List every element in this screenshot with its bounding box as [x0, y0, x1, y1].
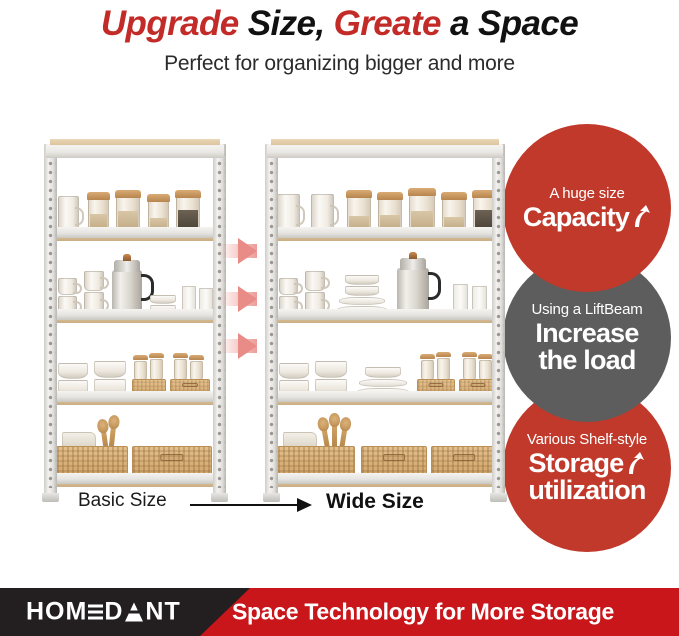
brand-logo: HOMDNT [26, 598, 181, 627]
headline-word-greate: Greate [334, 4, 441, 43]
brand-glyph-a [125, 603, 143, 622]
badge-storage-title-2: utilization [528, 477, 645, 504]
shelf-post-left [265, 144, 278, 494]
shelf-top-cap [46, 144, 224, 158]
transition-arrow-icon [238, 286, 257, 312]
page-title: Upgrade Size, Greate a Space [0, 4, 679, 44]
badge-capacity-subtitle: A huge size [549, 186, 624, 201]
bowl-stack [315, 361, 347, 378]
size-comparison-caption: Basic Size Wide Size [0, 490, 510, 524]
storage-jar [437, 358, 450, 381]
mug [305, 271, 325, 291]
plate-stack [339, 297, 385, 305]
shelf-beam [269, 227, 501, 238]
product-infographic: Upgrade Size, Greate a Space Perfect for… [0, 0, 679, 636]
bowl-stack [365, 367, 401, 378]
headline-word-space: a Space [441, 4, 578, 43]
shelf-top-cap [267, 144, 503, 158]
badge-storage-title: Storage [529, 450, 624, 477]
shelf-foot-left [263, 493, 280, 502]
badge-load-subtitle: Using a LiftBeam [531, 302, 642, 317]
shelf-foot-right [211, 493, 228, 502]
plate-stack [359, 379, 407, 387]
basic-shelf-2-items [54, 242, 216, 314]
wide-shelf-1-items [275, 180, 495, 232]
storage-jar [190, 361, 203, 381]
badge-capacity-title: Capacity [523, 204, 629, 231]
basic-shelf-1-items [54, 180, 216, 232]
shelf-beam [48, 473, 222, 484]
wooden-spoon [321, 426, 330, 449]
wide-shelf-4-items [275, 406, 495, 478]
basic-size-label: Basic Size [78, 490, 167, 512]
shelf-post-left [44, 144, 57, 494]
wide-shelf-3-items [275, 324, 495, 396]
basic-size-shelf-unit [44, 144, 226, 494]
mug [84, 271, 104, 291]
basic-shelf-3-items [54, 324, 216, 396]
shelf-post-right [213, 144, 226, 494]
mug [58, 278, 77, 295]
bowl-stack [279, 363, 309, 379]
shelf-beam [269, 391, 501, 402]
badge-load-title: Increase [535, 320, 638, 347]
headline-word-upgrade: Upgrade [101, 4, 239, 43]
storage-jar [134, 361, 147, 381]
moka-pot [112, 270, 142, 314]
transition-arrow-icon [238, 238, 257, 264]
wooden-spoon [332, 422, 337, 448]
storage-jar [421, 360, 434, 381]
wide-shelf-2-items [275, 242, 495, 314]
badge-load-title-2: the load [538, 347, 635, 374]
mug [279, 278, 298, 295]
transition-arrow-icon [238, 333, 257, 359]
moka-pot [397, 268, 429, 314]
shelf-post-right [492, 144, 505, 494]
footer-tagline: Space Technology for More Storage [232, 599, 614, 626]
bowl-stack [58, 363, 88, 379]
wide-size-label: Wide Size [326, 490, 424, 514]
badge-storage-subtitle: Various Shelf-style [527, 432, 647, 447]
shelf-beam [269, 473, 501, 484]
bowl-stack [94, 361, 126, 378]
shelf-beam [48, 227, 222, 238]
headline-word-size: Size, [239, 4, 334, 43]
storage-jar [479, 360, 492, 381]
footer-bar: HOMDNT Space Technology for More Storage [0, 588, 679, 636]
storage-jar [463, 358, 476, 381]
wide-size-shelf-unit [265, 144, 505, 494]
shelf-foot-left [42, 493, 59, 502]
brand-glyph-e [88, 603, 103, 622]
brand-prefix: HOM [26, 598, 87, 627]
shelf-beam [48, 391, 222, 402]
brand-suffix: NT [145, 598, 180, 627]
wooden-spoon [109, 424, 116, 448]
up-arrow-icon [631, 205, 651, 229]
feature-badges: A huge size Capacity Using a LiftBeam In… [503, 124, 673, 524]
bowl-stack [150, 295, 176, 304]
basic-shelf-4-items [54, 406, 216, 478]
storage-jar [174, 359, 187, 381]
shelf-beam [48, 309, 222, 320]
comparison-arrow-icon [190, 504, 310, 506]
up-arrow-icon [625, 452, 645, 476]
brand-mid: D [104, 598, 123, 627]
bowl-stack [345, 286, 379, 296]
storage-jar [150, 359, 163, 381]
bowl-stack [345, 275, 379, 285]
page-subtitle: Perfect for organizing bigger and more [0, 52, 679, 76]
wooden-spoon [339, 426, 347, 449]
shelf-foot-right [490, 493, 507, 502]
shelf-beam [269, 309, 501, 320]
badge-capacity: A huge size Capacity [503, 124, 671, 292]
